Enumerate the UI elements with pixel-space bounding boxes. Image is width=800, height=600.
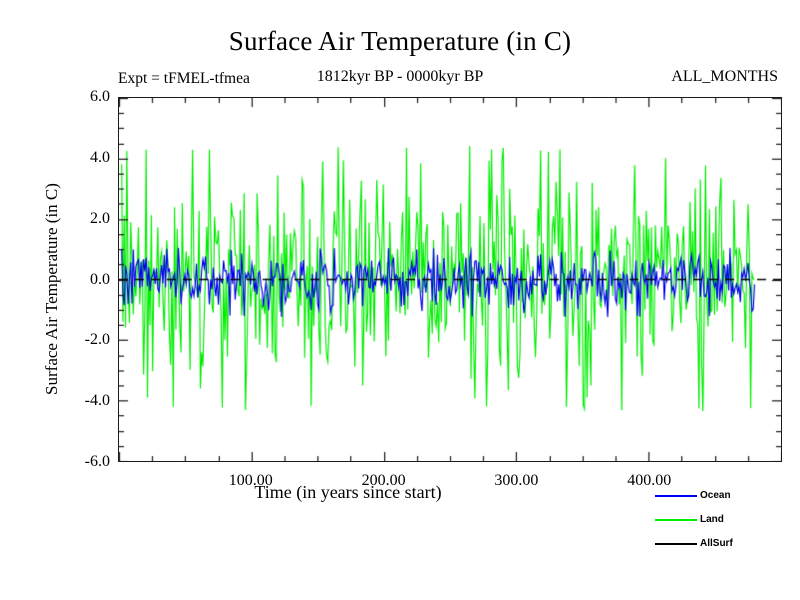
y-tick-label: 2.0 [54, 210, 110, 228]
y-tick-label: 0.0 [54, 271, 110, 289]
legend-color-swatch [655, 519, 697, 521]
chart-page: Surface Air Temperature (in C) Expt = tF… [0, 0, 800, 600]
legend-item[interactable]: Ocean [655, 484, 795, 508]
timeseries-canvas [119, 98, 781, 461]
y-tick-label: -4.0 [54, 392, 110, 410]
legend-color-swatch [655, 543, 697, 545]
y-axis-label: Surface Air Temperature (in C) [42, 149, 62, 429]
legend-label: AllSurf [700, 539, 733, 549]
page-title: Surface Air Temperature (in C) [0, 26, 800, 57]
y-tick-label: 4.0 [54, 149, 110, 167]
legend-color-swatch [655, 495, 697, 497]
y-tick-label: -6.0 [54, 453, 110, 471]
legend-item[interactable]: Land [655, 508, 795, 532]
legend-item[interactable]: AllSurf [655, 532, 795, 556]
legend: OceanLandAllSurf [655, 484, 795, 556]
y-tick-label: -2.0 [54, 331, 110, 349]
months-label: ALL_MONTHS [671, 68, 778, 86]
legend-label: Land [700, 515, 724, 525]
plot-area [118, 97, 782, 462]
y-tick-label: 6.0 [54, 88, 110, 106]
x-axis-label: Time (in years since start) [118, 482, 578, 503]
legend-label: Ocean [700, 491, 731, 501]
